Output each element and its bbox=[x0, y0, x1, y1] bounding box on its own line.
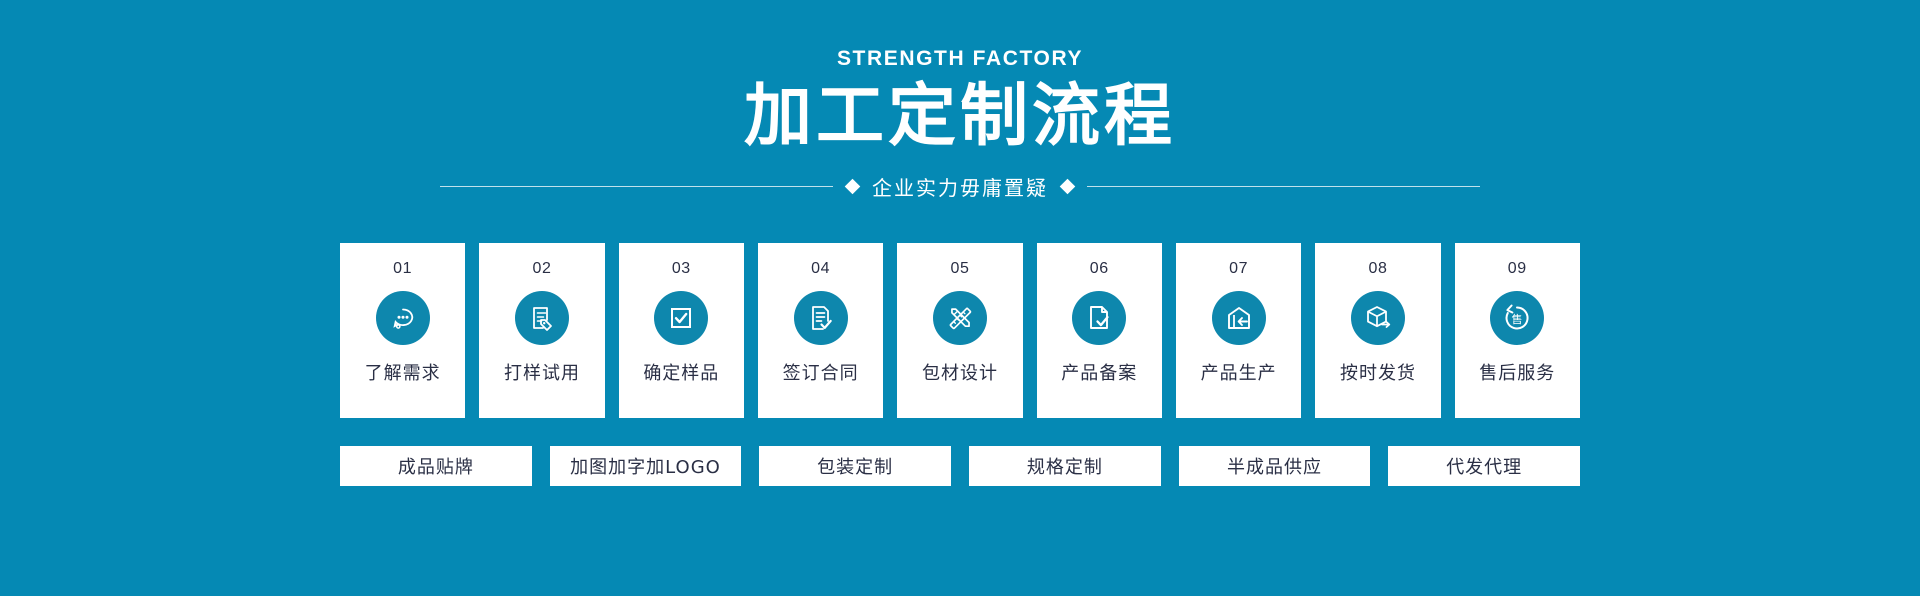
diamond-right-icon bbox=[1060, 179, 1076, 195]
pencil-ruler-cross-icon bbox=[933, 291, 987, 345]
step-number: 09 bbox=[1508, 260, 1527, 278]
step-card-09[interactable]: 09 售 售后服务 bbox=[1455, 243, 1580, 418]
step-card-05[interactable]: 05 包材设计 bbox=[897, 243, 1022, 418]
box-arrow-icon bbox=[1351, 291, 1405, 345]
step-number: 02 bbox=[532, 260, 551, 278]
checkbox-check-icon bbox=[654, 291, 708, 345]
refresh-after-sale-icon: 售 bbox=[1490, 291, 1544, 345]
diamond-left-icon bbox=[845, 179, 861, 195]
step-label: 按时发货 bbox=[1340, 359, 1416, 385]
process-banner: STRENGTH FACTORY 加工定制流程 企业实力毋庸置疑 01 bbox=[0, 0, 1920, 596]
step-card-08[interactable]: 08 按时发货 bbox=[1315, 243, 1440, 418]
page-title: 加工定制流程 bbox=[0, 76, 1920, 158]
step-label: 产品备案 bbox=[1061, 359, 1137, 385]
speech-bubble-dots-icon bbox=[376, 291, 430, 345]
process-steps-row: 01 了解需求 02 bbox=[340, 243, 1580, 418]
step-number: 08 bbox=[1368, 260, 1387, 278]
step-label: 包材设计 bbox=[922, 359, 998, 385]
document-tag-icon bbox=[515, 291, 569, 345]
subtitle-text: 企业实力毋庸置疑 bbox=[872, 172, 1048, 201]
service-tag-4[interactable]: 半成品供应 bbox=[1179, 446, 1371, 486]
service-tag-0[interactable]: 成品贴牌 bbox=[340, 446, 532, 486]
step-number: 05 bbox=[950, 260, 969, 278]
factory-arrow-icon bbox=[1212, 291, 1266, 345]
service-tags-row: 成品贴牌 加图加字加LOGO 包装定制 规格定制 半成品供应 代发代理 bbox=[340, 446, 1580, 486]
banner-header: STRENGTH FACTORY 加工定制流程 企业实力毋庸置疑 bbox=[0, 46, 1920, 201]
step-label: 签订合同 bbox=[783, 359, 859, 385]
eyebrow-text: STRENGTH FACTORY bbox=[0, 46, 1920, 72]
step-card-01[interactable]: 01 了解需求 bbox=[340, 243, 465, 418]
step-card-04[interactable]: 04 签订合同 bbox=[758, 243, 883, 418]
divider-line-left bbox=[440, 186, 833, 187]
subtitle-divider: 企业实力毋庸置疑 bbox=[440, 172, 1480, 201]
step-number: 01 bbox=[393, 260, 412, 278]
step-label: 了解需求 bbox=[365, 359, 441, 385]
step-number: 06 bbox=[1090, 260, 1109, 278]
service-tag-3[interactable]: 规格定制 bbox=[969, 446, 1161, 486]
file-check-icon bbox=[1072, 291, 1126, 345]
step-card-07[interactable]: 07 产品生产 bbox=[1176, 243, 1301, 418]
step-label: 产品生产 bbox=[1201, 359, 1277, 385]
step-card-03[interactable]: 03 确定样品 bbox=[619, 243, 744, 418]
step-label: 售后服务 bbox=[1479, 359, 1555, 385]
step-label: 确定样品 bbox=[643, 359, 719, 385]
step-card-06[interactable]: 06 产品备案 bbox=[1037, 243, 1162, 418]
step-label: 打样试用 bbox=[504, 359, 580, 385]
service-tag-1[interactable]: 加图加字加LOGO bbox=[550, 446, 742, 486]
step-number: 04 bbox=[811, 260, 830, 278]
service-tag-5[interactable]: 代发代理 bbox=[1388, 446, 1580, 486]
step-card-02[interactable]: 02 打样试用 bbox=[479, 243, 604, 418]
svg-text:售: 售 bbox=[1512, 312, 1523, 326]
step-number: 03 bbox=[672, 260, 691, 278]
contract-check-icon bbox=[794, 291, 848, 345]
step-number: 07 bbox=[1229, 260, 1248, 278]
service-tag-2[interactable]: 包装定制 bbox=[759, 446, 951, 486]
divider-line-right bbox=[1087, 186, 1480, 187]
